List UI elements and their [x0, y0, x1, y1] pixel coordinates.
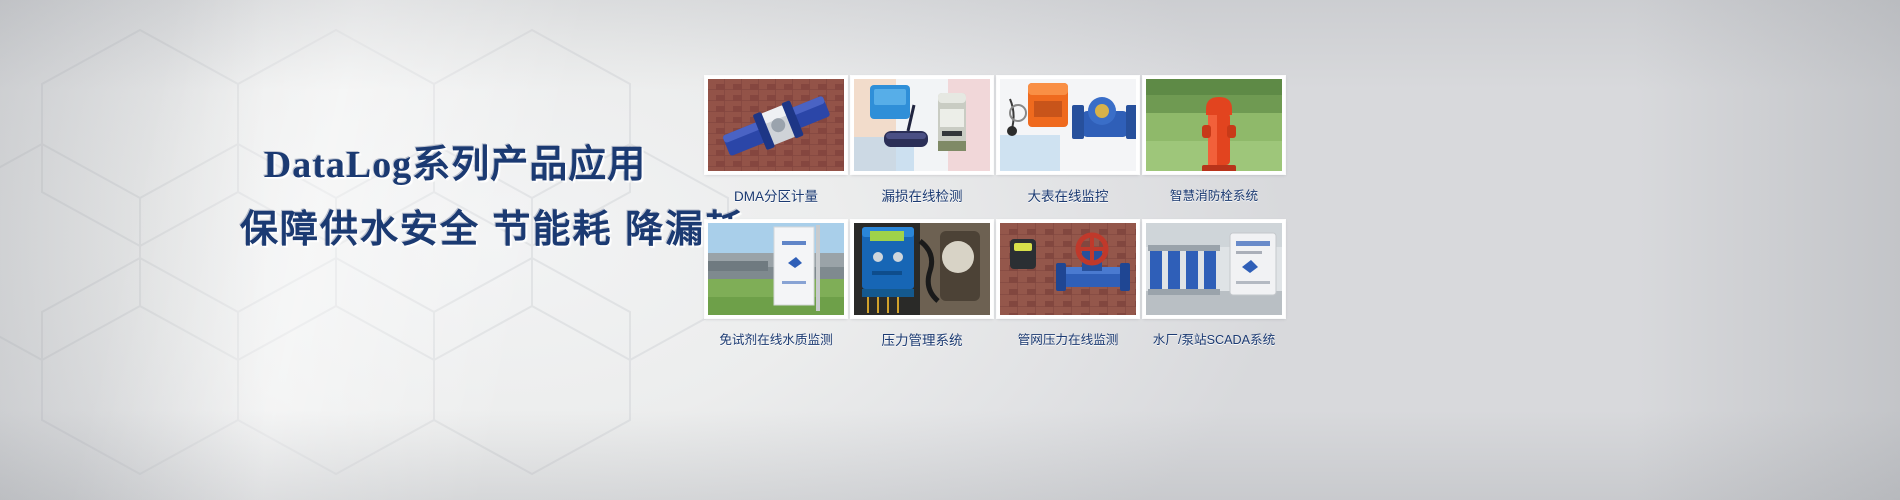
product-caption: 水厂/泵站SCADA系统	[1153, 329, 1275, 348]
product-caption: 漏损在线检测	[882, 185, 963, 205]
dma-metering-valve-photo	[708, 79, 844, 171]
product-caption: 管网压力在线监测	[1018, 329, 1119, 348]
reagentless-water-quality-station-photo	[708, 223, 844, 315]
product-thumbnail[interactable]	[997, 76, 1139, 174]
product-card[interactable]: 免试剂在线水质监测	[705, 220, 847, 362]
headline-block: DataLog系列产品应用 保障供水安全 节能耗 降漏耗	[240, 140, 670, 256]
product-thumbnail[interactable]	[1143, 220, 1285, 318]
product-card[interactable]: 智慧消防栓系统	[1143, 76, 1285, 218]
product-card[interactable]: 大表在线监控	[997, 76, 1139, 218]
product-caption: 压力管理系统	[882, 329, 963, 349]
product-caption: DMA分区计量	[734, 185, 818, 205]
headline-line-1: DataLog系列产品应用	[240, 140, 670, 190]
product-application-banner: DataLog系列产品应用 保障供水安全 节能耗 降漏耗	[0, 0, 1900, 500]
product-thumbnail[interactable]	[851, 76, 993, 174]
product-thumbnail[interactable]	[851, 220, 993, 318]
product-thumbnail[interactable]	[705, 76, 847, 174]
product-card[interactable]: 漏损在线检测	[851, 76, 993, 218]
product-thumbnail[interactable]	[997, 220, 1139, 318]
product-card[interactable]: DMA分区计量	[705, 76, 847, 218]
product-thumbnail[interactable]	[705, 220, 847, 318]
pressure-management-cabinet-photo	[854, 223, 990, 315]
leak-detection-logger-photo	[854, 79, 990, 171]
smart-fire-hydrant-photo	[1146, 79, 1282, 171]
product-grid: DMA分区计量	[705, 76, 1285, 362]
product-card[interactable]: 压力管理系统	[851, 220, 993, 362]
product-card[interactable]: 水厂/泵站SCADA系统	[1143, 220, 1285, 362]
product-caption: 大表在线监控	[1028, 185, 1109, 205]
waterworks-pump-station-scada-photo	[1146, 223, 1282, 315]
headline-line-2: 保障供水安全 节能耗 降漏耗	[240, 204, 670, 256]
product-caption: 免试剂在线水质监测	[719, 329, 832, 348]
product-card[interactable]: 管网压力在线监测	[997, 220, 1139, 362]
large-meter-monitoring-photo	[1000, 79, 1136, 171]
pipe-network-pressure-monitor-photo	[1000, 223, 1136, 315]
product-thumbnail[interactable]	[1143, 76, 1285, 174]
product-caption: 智慧消防栓系统	[1170, 185, 1258, 204]
